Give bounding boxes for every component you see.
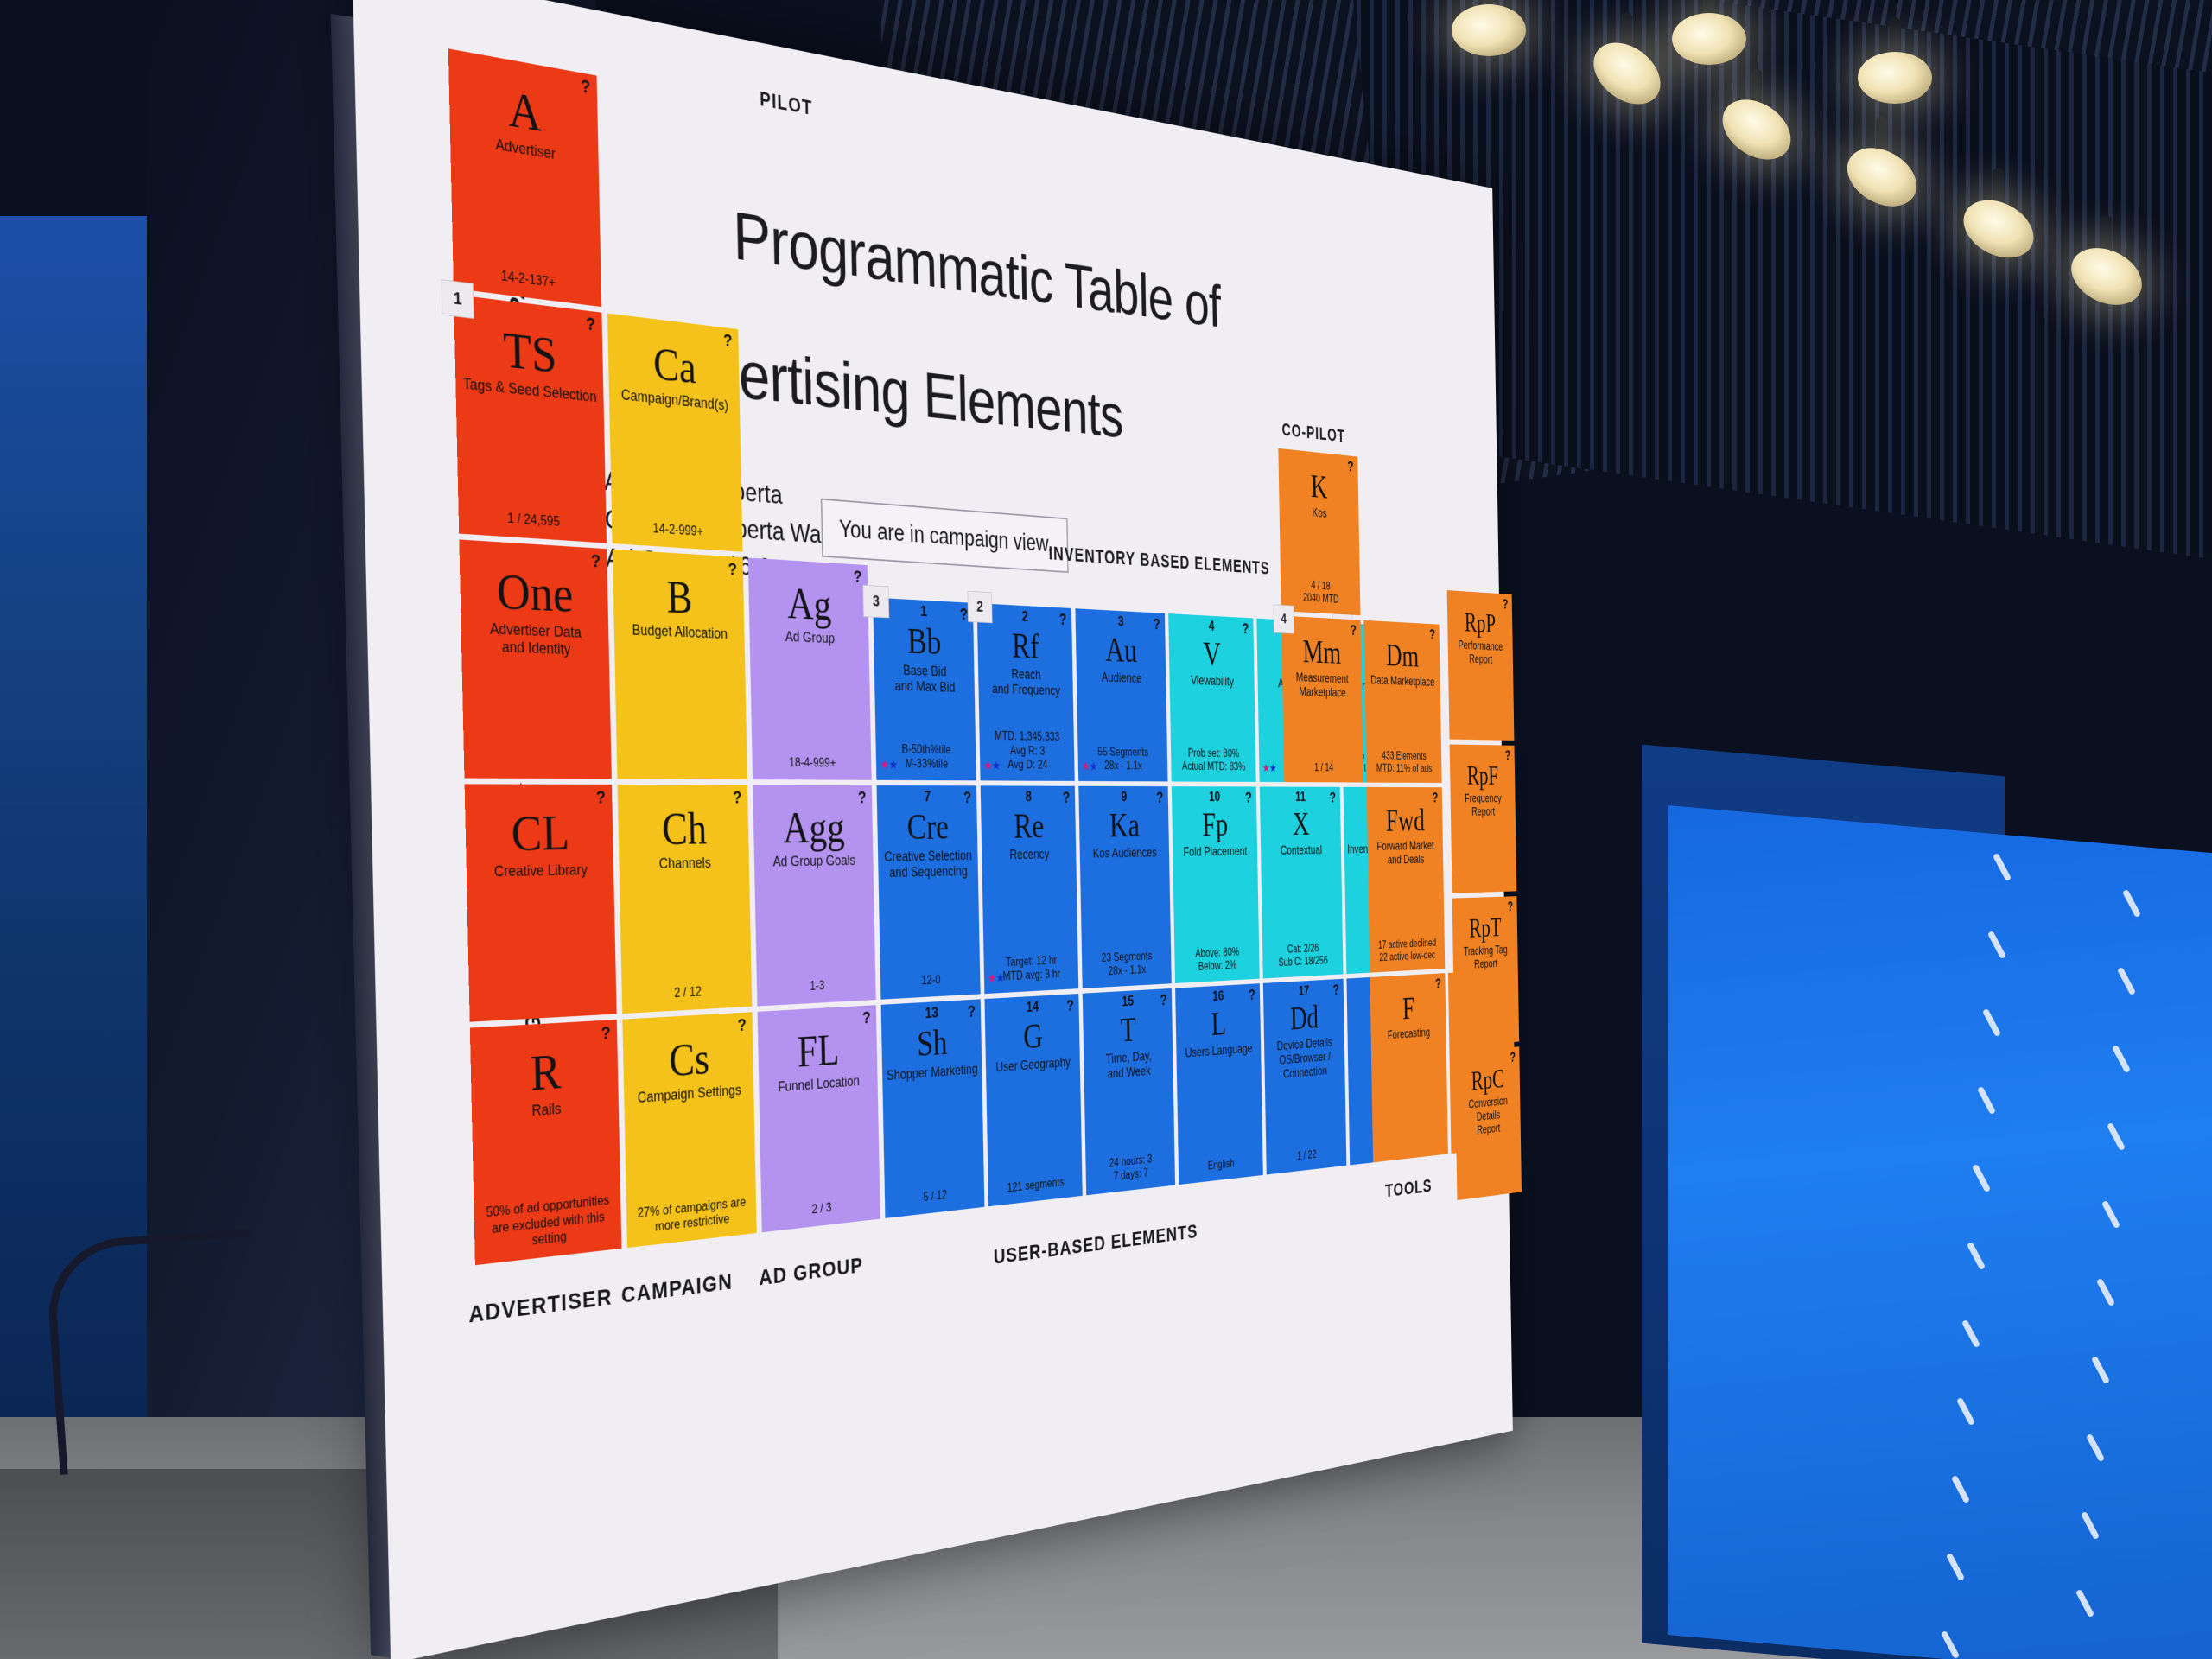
footer-label-campaign: CAMPAIGN (621, 1269, 734, 1309)
tile-stat: 14-2-137+ (453, 262, 601, 297)
tile-stat: 2 / 3 (761, 1195, 880, 1223)
tile-symbol: X (1293, 809, 1310, 842)
tile-stat: 1-3 (757, 976, 876, 997)
tile-number: 3 (1117, 613, 1123, 630)
tile-name: Ad Group (785, 628, 835, 646)
tile-number: 15 (1122, 994, 1134, 1011)
title-line-1: Programmatic Table of (732, 197, 1221, 340)
tile-name: Viewability (1191, 673, 1234, 690)
element-tile-grid: ?AAdvertiser14-2-137+1?TSTags & Seed Sel… (353, 0, 1493, 188)
help-question-icon[interactable]: ? (1332, 981, 1339, 998)
tile-symbol: Rf (1012, 628, 1039, 664)
element-tile-rpf[interactable]: ?RpFFrequency Report (1450, 744, 1517, 893)
footer-label-tools: TOOLS (1385, 1175, 1433, 1202)
tile-symbol: R (530, 1046, 561, 1099)
tile-number: 2 (1021, 608, 1028, 626)
tile-step-badge: 3 (862, 585, 889, 619)
tile-name: Tracking Tag Report (1456, 943, 1516, 973)
star-icon-blue: ★ (995, 970, 1004, 985)
tile-number: 7 (924, 789, 931, 806)
help-question-icon[interactable]: ? (737, 1014, 747, 1035)
star-icon-pink: ★ (983, 759, 992, 772)
element-tile-rpc[interactable]: ?RpCConversion Details Report (1455, 1046, 1522, 1200)
tile-name: Creative Library (494, 861, 588, 880)
tile-name: Budget Allocation (632, 622, 728, 643)
element-tile-cs[interactable]: ?CsCampaign Settings27% of campaigns are… (622, 1012, 756, 1248)
help-question-icon[interactable]: ? (581, 75, 591, 99)
element-tile-ka[interactable]: 9?KaKos Audiences23 Segments 28x - 1.1x (1078, 786, 1171, 988)
tile-name: Campaign Settings (638, 1082, 741, 1107)
element-tile-l[interactable]: 16?LUsers LanguageEnglish (1175, 983, 1263, 1185)
tile-name: Measurement Marketplace (1296, 671, 1349, 701)
element-tile-re[interactable]: 8?ReRecencyTarget: 12 hr MTD avg: 3 hr★★ (981, 785, 1079, 994)
star-icon-blue: ★ (992, 759, 1001, 772)
help-question-icon[interactable]: ? (858, 788, 867, 808)
tile-stat: Above: 80% Below: 2% (1174, 944, 1259, 975)
tile-symbol: Ka (1109, 809, 1141, 843)
tile-name: Conversion Details Report (1459, 1093, 1518, 1140)
element-tile-cl[interactable]: ?CLCreative Library (465, 784, 617, 1021)
tile-symbol: FL (798, 1028, 840, 1074)
element-tile-sh[interactable]: 13?ShShopper Marketing5 / 12 (881, 999, 985, 1218)
element-tile-ag[interactable]: ?AgAd Group18-4-999+ (748, 557, 872, 779)
tile-stat: 1 / 14 (1284, 761, 1363, 775)
tile-name: Creative Selection and Sequencing (884, 848, 972, 881)
tile-stat: 50% of ad opportunities are excluded wit… (474, 1192, 621, 1255)
tile-symbol: Agg (783, 807, 845, 851)
tile-symbol: RpF (1467, 762, 1499, 789)
tile-symbol: Au (1105, 633, 1137, 669)
element-tile-b[interactable]: ?BBudget Allocation (613, 550, 747, 780)
tile-step-badge: 4 (1273, 604, 1294, 633)
tile-number: 11 (1295, 790, 1306, 805)
tile-stat: 1 / 24,595 (459, 507, 607, 533)
tile-symbol: Bb (907, 624, 942, 661)
tile-stat: 2 / 12 (622, 982, 753, 1004)
element-tile-a[interactable]: ?AAdvertiser14-2-137+ (448, 48, 601, 307)
tile-number: 1 (920, 603, 927, 620)
help-question-icon[interactable]: ? (1153, 615, 1160, 634)
star-icon-pink: ★ (880, 757, 888, 772)
help-question-icon[interactable]: ? (1432, 789, 1438, 805)
tile-name: User Geography (995, 1054, 1071, 1075)
tile-symbol: Cs (669, 1037, 710, 1084)
element-tile-mm[interactable]: 4?MmMeasurement Marketplace1 / 14 (1281, 616, 1363, 783)
tile-name: Data Marketplace (1370, 673, 1434, 690)
tile-name: Performance Report (1451, 638, 1510, 667)
tile-symbol: Ch (662, 807, 708, 852)
tile-symbol: TS (503, 324, 557, 382)
help-question-icon[interactable]: ? (601, 1022, 611, 1044)
help-question-icon[interactable]: ? (854, 567, 862, 588)
help-question-icon[interactable]: ? (591, 550, 601, 572)
tile-stat: 12-0 (880, 971, 981, 990)
tile-stat: English (1179, 1154, 1263, 1176)
tile-symbol: V (1203, 638, 1221, 671)
star-icon-pink: ★ (988, 971, 996, 986)
element-tile-v[interactable]: 4?VViewabilityProb set: 80% Actual MTD: … (1168, 613, 1255, 782)
tile-symbol: RpP (1465, 609, 1497, 638)
tile-number: 13 (925, 1005, 938, 1023)
tile-symbol: Re (1014, 809, 1045, 844)
help-question-icon[interactable]: ? (1347, 458, 1354, 476)
help-question-icon[interactable]: ? (968, 1001, 976, 1021)
tile-name: Forecasting (1388, 1026, 1430, 1043)
help-question-icon[interactable]: ? (1503, 595, 1509, 612)
element-tile-t[interactable]: 15?TTime, Day, and Week24 hours: 3 7 day… (1083, 988, 1175, 1195)
tile-symbol: Sh (917, 1025, 948, 1063)
presentation-screen: Programmatic Table of Advertising Elemen… (353, 0, 1513, 1659)
tile-number: 9 (1121, 789, 1127, 805)
tile-name: Rails (531, 1100, 561, 1120)
group-label-pilot: PILOT (760, 88, 813, 120)
tile-symbol: Fwd (1386, 805, 1425, 836)
tile-symbol: Ag (787, 582, 832, 628)
help-question-icon[interactable]: ? (1510, 1049, 1516, 1065)
tile-stat: 433 Elements MTD: 11% of ads (1366, 749, 1442, 775)
help-question-icon[interactable]: ? (1156, 789, 1164, 807)
element-tile-dd[interactable]: 17?DdDevice Details OS/Browser / Connect… (1263, 979, 1347, 1175)
help-question-icon[interactable]: ? (1242, 620, 1249, 638)
tile-name: Fold Placement (1183, 844, 1247, 860)
tile-stat: 24 hours: 3 7 days: 7 (1085, 1150, 1174, 1186)
tile-star-markers: ★★ (988, 970, 1004, 986)
help-question-icon[interactable]: ? (1062, 788, 1070, 807)
tile-star-markers: ★★ (880, 757, 898, 772)
tile-star-markers: ★★ (983, 759, 1000, 773)
help-question-icon[interactable]: ? (1350, 621, 1357, 639)
help-question-icon[interactable]: ? (723, 330, 733, 352)
footer-label-user-based-elements: USER-BASED ELEMENTS (994, 1220, 1198, 1269)
help-question-icon[interactable]: ? (1435, 976, 1441, 993)
element-tile-rf[interactable]: 22?RfReach and FrequencyMTD: 1,345,333 A… (977, 603, 1075, 781)
tile-name: Kos Audiences (1093, 845, 1157, 861)
footer-label-advertiser: ADVERTISER (468, 1284, 613, 1329)
tile-symbol: Fp (1202, 809, 1229, 842)
tile-stat: 17 active declined 22 active low-dec (1370, 936, 1445, 964)
tile-name: Advertiser Data and Identity (490, 620, 582, 659)
tile-symbol: Ca (653, 341, 697, 391)
tile-symbol: T (1120, 1013, 1136, 1048)
element-tile-dm[interactable]: ?DmData Marketplace433 Elements MTD: 11%… (1363, 620, 1441, 783)
help-question-icon[interactable]: ? (586, 313, 596, 335)
element-tile-rpp[interactable]: ?RpPPerformance Report (1447, 590, 1515, 741)
element-tile-bb[interactable]: 31?BbBase Bid and Max BidB-50th%tile M-3… (873, 598, 976, 781)
tile-symbol: Mm (1302, 636, 1341, 670)
element-tile-ca[interactable]: ?CaCampaign/Brand(s)14-2-999+ (607, 314, 743, 552)
element-tile-k[interactable]: ?KKos4 / 18 2040 MTD (1278, 448, 1360, 615)
tile-name: Device Details OS/Browser / Connection (1277, 1035, 1333, 1083)
help-question-icon[interactable]: ? (1066, 996, 1074, 1015)
tile-number: 16 (1212, 988, 1224, 1005)
element-tile-r[interactable]: ?RRails50% of ad opportunities are exclu… (470, 1020, 622, 1265)
help-question-icon[interactable]: ? (1160, 991, 1167, 1010)
tile-name: Ad Group Goals (772, 853, 855, 871)
help-question-icon[interactable]: ? (960, 605, 969, 625)
tile-symbol: RpC (1471, 1065, 1504, 1095)
tile-symbol: B (666, 575, 693, 621)
element-tile-ts[interactable]: 1?TSTags & Seed Selection1 / 24,595 (454, 295, 607, 543)
tile-stat: 18-4-999+ (752, 755, 871, 771)
element-tile-agg[interactable]: ?AggAd Group Goals1-3 (753, 785, 876, 1006)
help-question-icon[interactable]: ? (1429, 626, 1435, 643)
tile-symbol: L (1211, 1007, 1226, 1041)
element-tile-one[interactable]: ?OneAdvertiser Data and Identity (459, 539, 612, 779)
element-tile-rpt[interactable]: ?RpTTracking Tag Report (1452, 896, 1520, 1046)
tile-symbol: A (508, 83, 543, 140)
star-icon-blue: ★ (1269, 761, 1276, 774)
tile-stat: 23 Segments 28x - 1.1x (1082, 949, 1172, 980)
tile-stat: 27% of campaigns are more restrictive (626, 1193, 757, 1238)
tile-stat: 4 / 18 2040 MTD (1281, 577, 1360, 608)
help-question-icon[interactable]: ? (1249, 986, 1255, 1004)
tile-step-badge: 1 (441, 279, 474, 319)
presentation-screen-wrap: Programmatic Table of Advertising Elemen… (0, 0, 2212, 1659)
tile-symbol: One (496, 565, 573, 620)
element-tile-g[interactable]: 14?GUser Geography121 segments (984, 994, 1082, 1206)
conference-stage-photo: Programmatic Table of Advertising Elemen… (0, 0, 2212, 1659)
help-question-icon[interactable]: ? (1507, 898, 1513, 914)
tile-name: Funnel Location (778, 1073, 860, 1096)
star-icon-blue: ★ (1090, 760, 1097, 773)
tile-symbol: F (1402, 993, 1415, 1025)
tile-symbol: RpT (1469, 914, 1502, 942)
help-question-icon[interactable]: ? (1245, 789, 1252, 807)
tile-symbol: CL (511, 807, 570, 859)
help-question-icon[interactable]: ? (596, 787, 607, 809)
star-icon-blue: ★ (888, 758, 897, 772)
tile-number: 8 (1025, 789, 1032, 805)
help-question-icon[interactable]: ? (963, 788, 972, 807)
element-tile-cre[interactable]: 7?CreCreative Selection and Sequencing12… (877, 785, 981, 1000)
tile-stat: Cat: 2/26 Sub C: 18/256 (1262, 941, 1343, 970)
tile-star-markers: ★★ (1262, 761, 1277, 775)
element-tile-au[interactable]: 3?AuAudience55 Segments 28x - 1.1x★★ (1075, 608, 1167, 781)
tile-name: Time, Day, and Week (1106, 1049, 1152, 1083)
help-question-icon[interactable]: ? (1505, 747, 1511, 764)
tile-name: Advertiser (495, 136, 556, 163)
tile-symbol: K (1311, 470, 1328, 504)
tile-stat: 5 / 12 (885, 1184, 984, 1209)
element-tile-fp[interactable]: 10?FpFold PlacementAbove: 80% Below: 2% (1172, 786, 1260, 983)
tile-name: Kos (1312, 505, 1326, 521)
tile-name: Shopper Marketing (887, 1061, 978, 1084)
tile-step-badge: 2 (968, 591, 993, 623)
tile-number: 10 (1209, 789, 1220, 804)
group-label-co-pilot: CO-PILOT (1281, 420, 1345, 447)
footer-label-ad-group: AD GROUP (759, 1253, 863, 1291)
help-question-icon[interactable]: ? (1329, 789, 1336, 806)
tile-symbol: Dm (1386, 639, 1419, 672)
tile-symbol: Cre (906, 810, 949, 846)
element-tile-fwd[interactable]: ?FwdForward Market and Deals17 active de… (1367, 787, 1446, 973)
tile-stat: 121 segments (988, 1173, 1083, 1198)
tile-name: Users Language (1185, 1041, 1253, 1061)
help-question-icon[interactable]: ? (733, 787, 742, 808)
element-tile-f[interactable]: ?FForecasting (1370, 973, 1447, 1162)
tile-symbol: Dd (1290, 1001, 1319, 1035)
tile-name: Reach and Frequency (991, 666, 1060, 699)
element-tile-fl[interactable]: ?FLFunnel Location2 / 3 (758, 1005, 880, 1232)
element-tile-ch[interactable]: ?ChChannels2 / 12 (618, 785, 753, 1014)
tile-name: Contextual (1281, 843, 1322, 858)
element-tile-x[interactable]: 11?XContextualCat: 2/26 Sub C: 18/256 (1260, 786, 1344, 978)
tile-number: 14 (1026, 999, 1039, 1016)
tile-name: Forward Market and Deals (1376, 839, 1434, 868)
tile-symbol: G (1023, 1019, 1043, 1055)
tile-number: 4 (1209, 619, 1215, 635)
help-question-icon[interactable]: ? (1059, 610, 1067, 629)
tile-stat: 14-2-999+ (612, 518, 742, 543)
tile-name: Recency (1009, 847, 1049, 863)
help-question-icon[interactable]: ? (862, 1007, 871, 1027)
tile-number: 17 (1299, 983, 1310, 1000)
tile-name: Audience (1102, 670, 1142, 686)
tile-stat: Prob set: 80% Actual MTD: 83% (1171, 747, 1256, 774)
tile-name: Frequency Report (1453, 791, 1513, 818)
tile-name: Base Bid and Max Bid (894, 662, 955, 696)
help-question-icon[interactable]: ? (728, 559, 737, 580)
tile-star-markers: ★★ (1082, 760, 1097, 774)
tile-name: Channels (658, 855, 711, 873)
tile-stat: 1 / 22 (1266, 1145, 1346, 1166)
